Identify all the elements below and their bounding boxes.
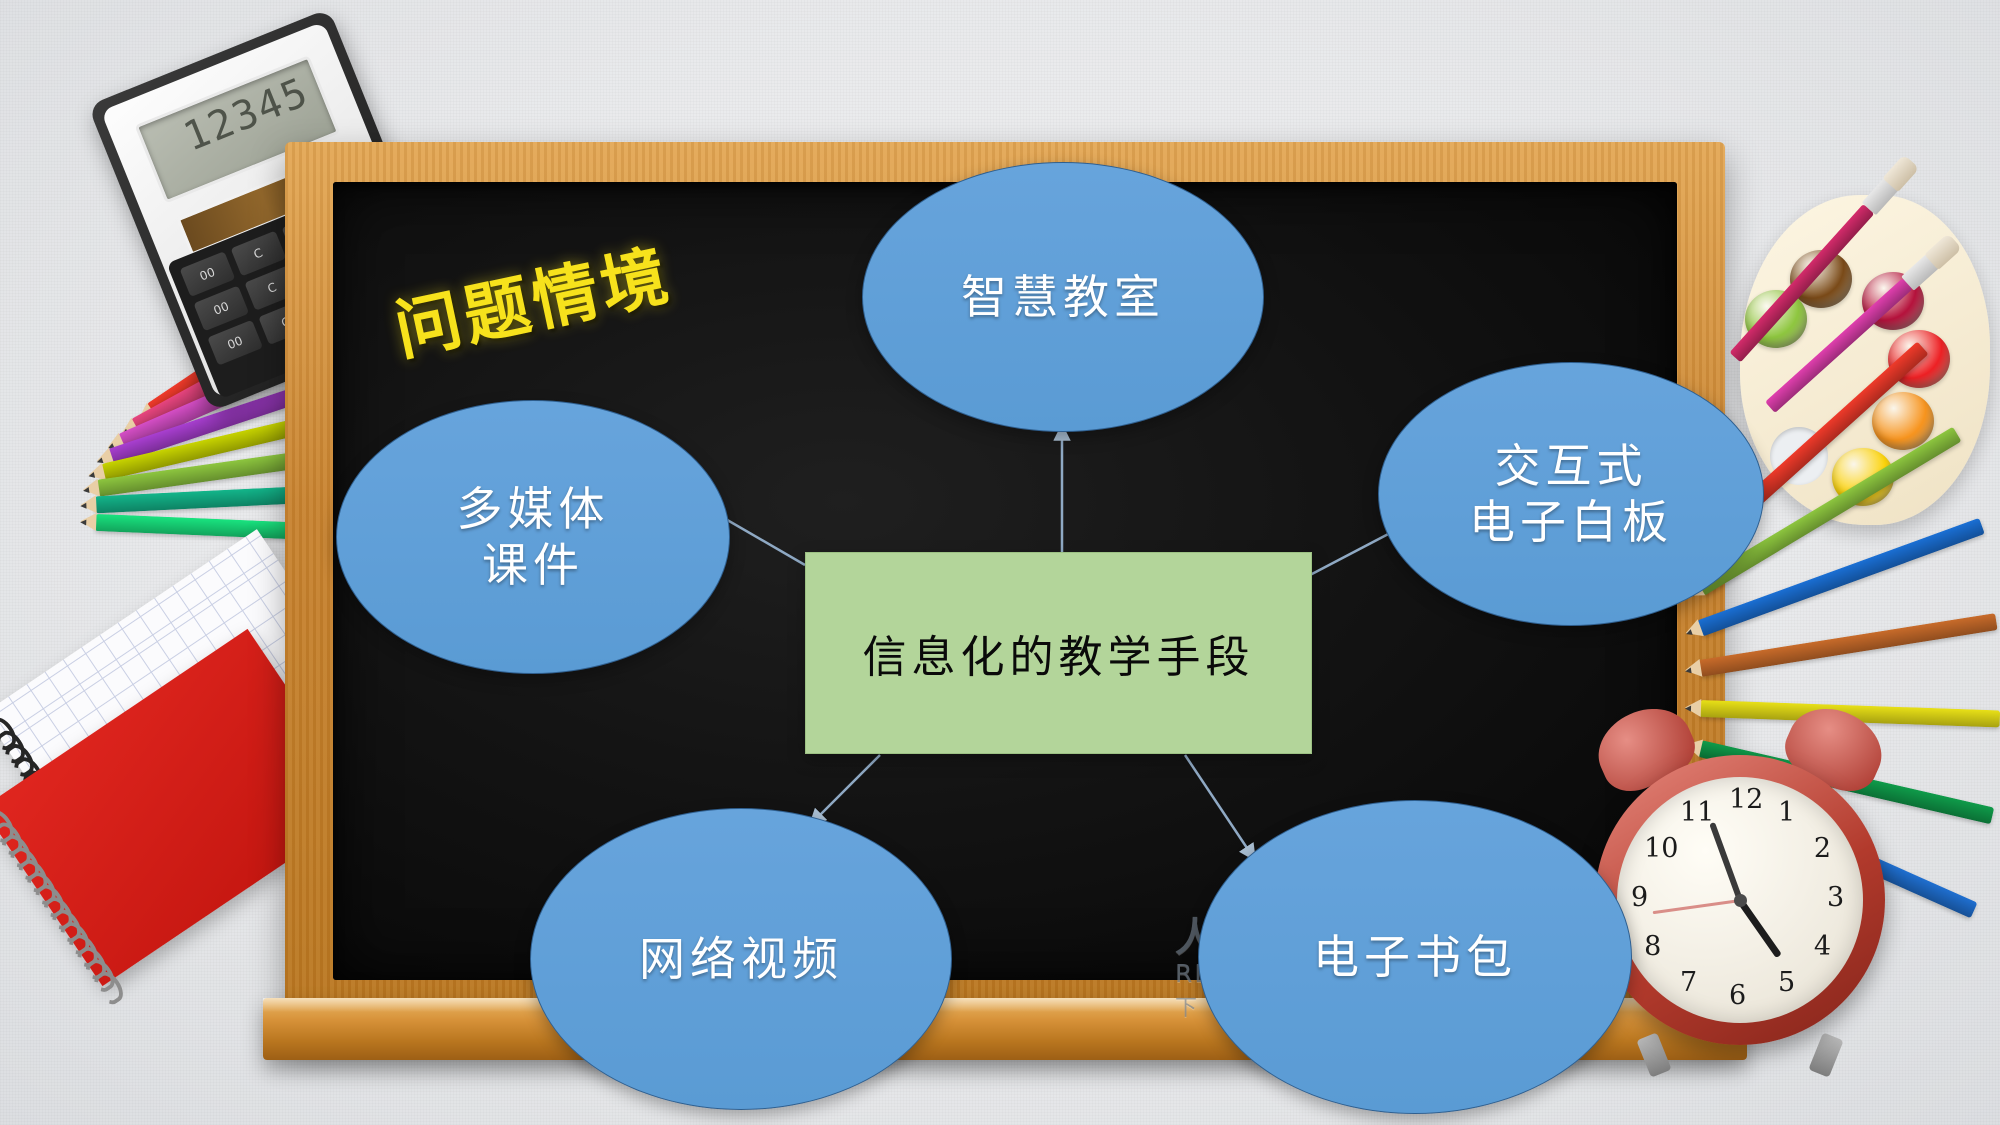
node-center-label: 信息化的教学手段 (863, 621, 1255, 685)
node-ebook-bag[interactable]: 电子书包 (1198, 800, 1632, 1114)
slide-canvas: 12345 00C+/-÷00C+/-÷00C+/-÷ (0, 0, 2000, 1125)
node-smart-classroom-label: 智慧教室 (961, 269, 1165, 325)
connector-center-to-ebook-bag (1185, 755, 1255, 860)
node-interactive-board-label: 交互式电子白板 (1469, 438, 1673, 550)
node-network-video[interactable]: 网络视频 (530, 808, 952, 1110)
concept-diagram: 问题情境 智慧教室 交互式电子白板 多媒体课件 网络视频 电子书包 信息化的教学… (0, 0, 2000, 1125)
node-center-information-teaching-methods[interactable]: 信息化的教学手段 (805, 552, 1312, 754)
node-smart-classroom[interactable]: 智慧教室 (862, 162, 1264, 432)
connector-center-to-network-video (810, 755, 880, 825)
node-multimedia-courseware-label: 多媒体课件 (457, 481, 610, 593)
node-multimedia-courseware[interactable]: 多媒体课件 (336, 400, 730, 674)
node-interactive-board[interactable]: 交互式电子白板 (1378, 362, 1764, 626)
node-ebook-bag-label: 电子书包 (1313, 929, 1517, 985)
node-network-video-label: 网络视频 (639, 931, 843, 987)
